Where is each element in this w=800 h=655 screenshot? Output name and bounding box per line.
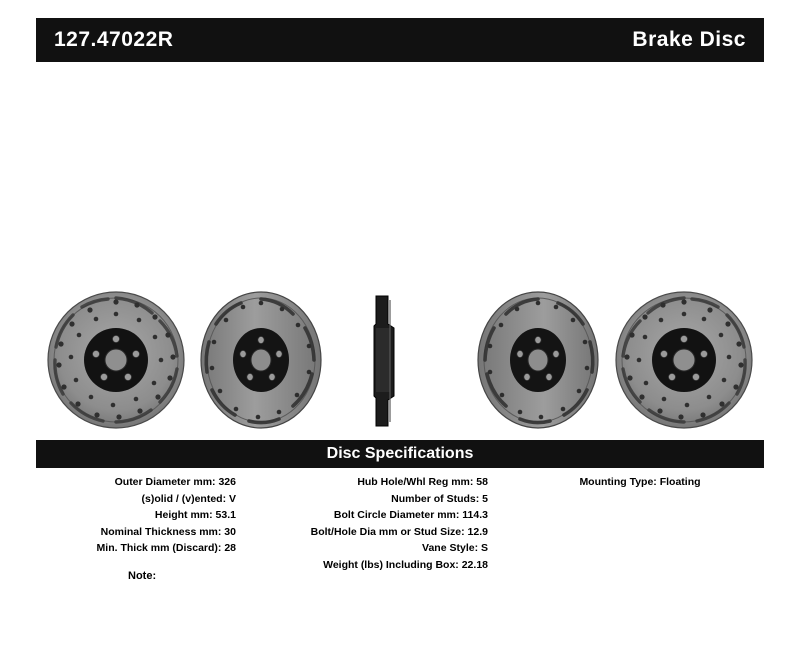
- rotor-face-drilled-right: [604, 280, 764, 445]
- spec-item: Mounting Type: Floating: [516, 474, 764, 491]
- spec-item: Height mm: 53.1: [36, 507, 236, 524]
- spec-item: (s)olid / (v)ented: V: [36, 491, 236, 508]
- spec-item: Min. Thick mm (Discard): 28: [36, 540, 236, 557]
- rotor-face-drilled-left: [36, 280, 196, 445]
- spec-item: Outer Diameter mm: 326: [36, 474, 236, 491]
- spec-header-bar: Disc Specifications: [36, 440, 764, 468]
- spec-header-title: Disc Specifications: [327, 445, 474, 463]
- spec-item: Number of Studs: 5: [258, 491, 488, 508]
- spec-column-left: Outer Diameter mm: 326 (s)olid / (v)ente…: [36, 474, 236, 557]
- spec-column-right: Mounting Type: Floating: [516, 474, 764, 491]
- spec-item: Weight (lbs) Including Box: 22.18: [258, 557, 488, 574]
- spec-item: Nominal Thickness mm: 30: [36, 524, 236, 541]
- note-label: Note:: [128, 570, 156, 582]
- rotor-edge-profile: [354, 280, 414, 445]
- header-bar: 127.47022R Brake Disc: [36, 18, 764, 62]
- rotor-face-slotted-angled-right: [466, 280, 616, 445]
- spec-item: Bolt Circle Diameter mm: 114.3: [258, 507, 488, 524]
- rotor-face-slotted-angled: [183, 280, 333, 445]
- spec-column-middle: Hub Hole/Whl Reg mm: 58 Number of Studs:…: [258, 474, 488, 573]
- spec-item: Hub Hole/Whl Reg mm: 58: [258, 474, 488, 491]
- page-title: Brake Disc: [632, 28, 746, 52]
- rotor-illustration-group: [36, 280, 764, 440]
- spec-item: Vane Style: S: [258, 540, 488, 557]
- spec-item: Bolt/Hole Dia mm or Stud Size: 12.9: [258, 524, 488, 541]
- spec-table: Outer Diameter mm: 326 (s)olid / (v)ente…: [36, 474, 764, 584]
- part-number: 127.47022R: [54, 28, 173, 52]
